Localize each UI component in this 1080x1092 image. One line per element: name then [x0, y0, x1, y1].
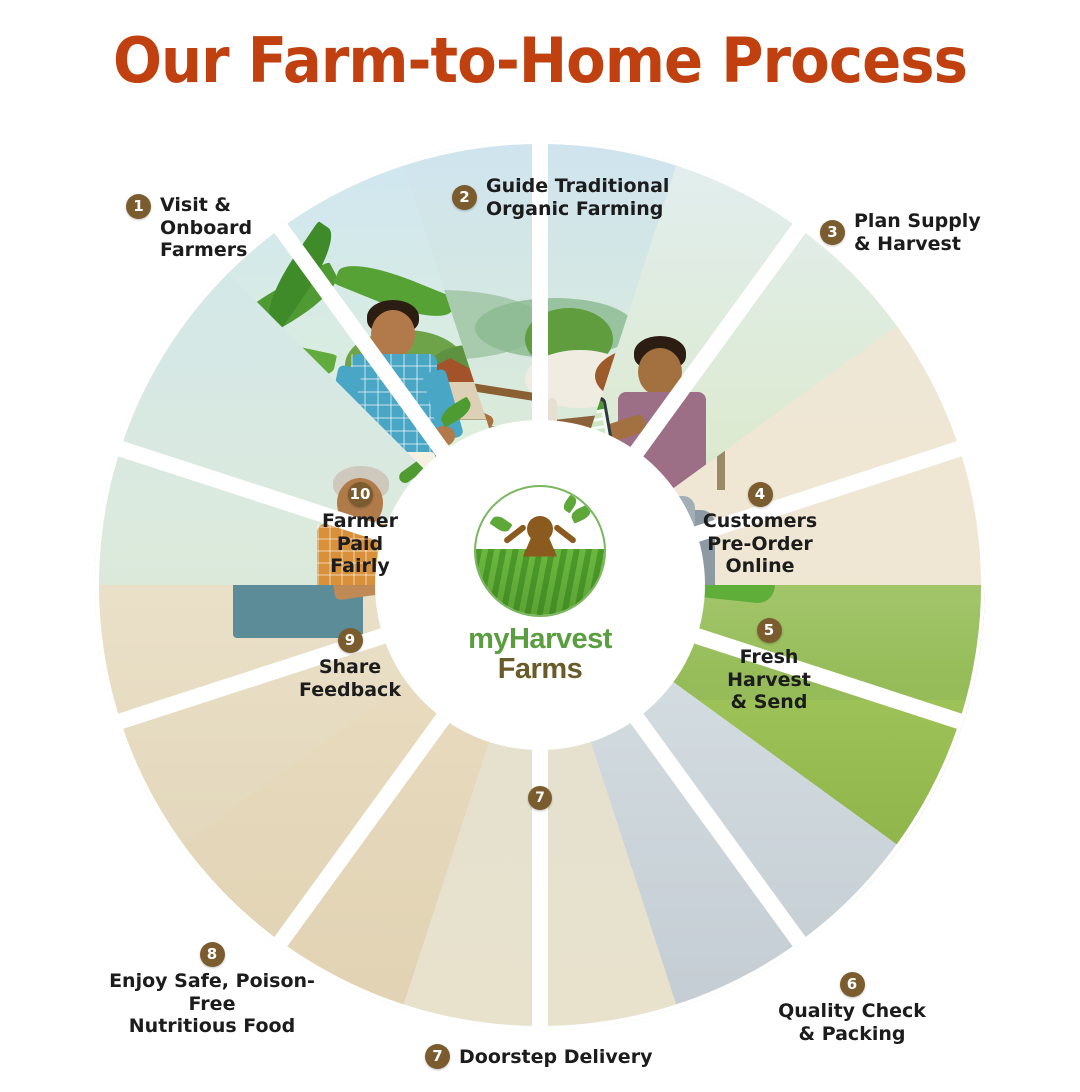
step-badge-9: 9 [338, 628, 363, 653]
step-enjoy-safe-food[interactable]: 8 Enjoy Safe, Poison-Free Nutritious Foo… [92, 920, 332, 1060]
step-badge-7-duplicate: 7 [528, 786, 552, 810]
step-customers-preorder-online[interactable]: 4 Customers Pre-Order Online [700, 460, 820, 600]
logo-wordmark-line2: Farms [468, 655, 612, 685]
step-label-7: Doorstep Delivery [459, 1046, 652, 1068]
step-badge-3: 3 [820, 220, 845, 245]
step-label-5: Fresh Harvest & Send [727, 646, 811, 713]
step-label-9: Share Feedback [299, 656, 401, 701]
step-label-8: Enjoy Safe, Poison-Free Nutritious Food [92, 970, 332, 1037]
step-badge-10: 10 [348, 482, 373, 507]
step-label-6: Quality Check & Packing [778, 1000, 926, 1045]
step-badge-7-inline: 7 [528, 786, 552, 810]
step-farmer-paid-fairly[interactable]: 10 Farmer Paid Fairly [300, 460, 420, 600]
page-title: Our Farm-to-Home Process [38, 24, 1042, 97]
step-badge-4: 4 [748, 482, 773, 507]
myharvest-farms-logo-icon [474, 485, 606, 617]
step-label-4: Customers Pre-Order Online [703, 510, 817, 577]
step-plan-supply-harvest[interactable]: 3 Plan Supply & Harvest [820, 188, 981, 278]
wheel-hub: myHarvest Farms [375, 420, 705, 750]
step-label-2: Guide Traditional Organic Farming [486, 175, 669, 220]
step-badge-7: 7 [425, 1044, 450, 1069]
logo-wordmark-line1: myHarvest [468, 625, 612, 655]
step-badge-1: 1 [126, 194, 151, 219]
step-badge-8: 8 [200, 942, 225, 967]
step-badge-5: 5 [757, 618, 782, 643]
step-visit-onboard-farmers[interactable]: 1 Visit & Onboard Farmers [126, 172, 252, 284]
step-fresh-harvest-send[interactable]: 5 Fresh Harvest & Send [714, 596, 824, 736]
step-guide-organic-farming[interactable]: 2 Guide Traditional Organic Farming [452, 153, 669, 243]
step-doorstep-delivery[interactable]: 7 Doorstep Delivery [425, 1022, 652, 1092]
step-badge-2: 2 [452, 185, 477, 210]
step-label-1: Visit & Onboard Farmers [160, 194, 252, 261]
step-label-10: Farmer Paid Fairly [322, 510, 398, 577]
step-badge-6: 6 [840, 972, 865, 997]
step-label-3: Plan Supply & Harvest [854, 210, 981, 255]
step-share-feedback[interactable]: 9 Share Feedback [290, 606, 410, 724]
step-quality-check-packing[interactable]: 6 Quality Check & Packing [762, 950, 942, 1068]
